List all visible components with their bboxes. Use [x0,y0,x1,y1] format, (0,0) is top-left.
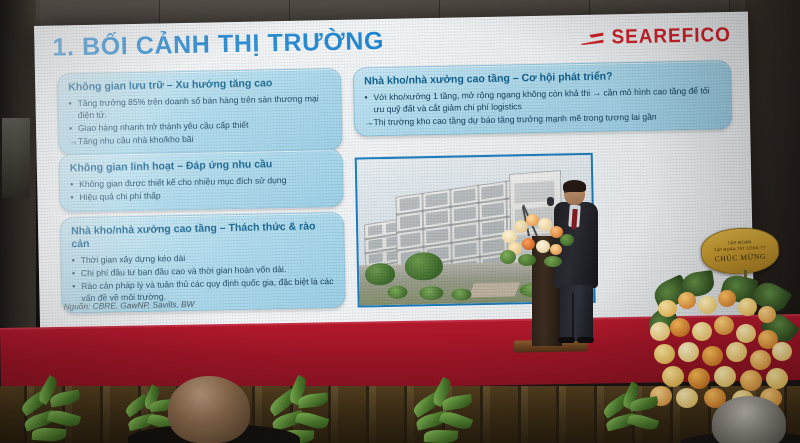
info-box-storage: Không gian lưu trữ – Xu hướng tăng cao T… [57,68,343,155]
info-box-challenges: Nhà kho/nhà xưởng cao tầng – Thách thức … [60,212,346,313]
info-box-flexible-space: Không gian linh hoạt – Đáp ứng nhu cầu K… [59,149,344,213]
box-heading: Không gian lưu trữ – Xu hướng tăng cao [68,76,330,94]
attendee-head-left [168,376,250,443]
box-heading: Không gian linh hoạt – Đáp ứng nhu cầu [70,157,332,175]
attendee-head-right [712,396,786,443]
microphone-icon [547,197,554,206]
photo-walkway [469,282,520,297]
decorative-plant [16,378,86,443]
box-bullet-list: Thời gian xây dựng kéo dài Chi phí đầu t… [72,250,335,305]
sign-line-3: CHÚC MỪNG [714,252,766,264]
conference-scene: 1. BỐI CẢNH THỊ TRƯỜNG SEAREFICO Không g… [0,0,800,443]
tree [405,252,444,281]
podium-flower-arrangement [500,212,576,268]
tree [365,263,395,286]
logo-text: SEAREFICO [612,24,732,49]
searefico-swoosh-icon [580,30,606,47]
box-heading: Nhà kho/nhà xưởng cao tầng – Thách thức … [71,220,333,252]
speaker-hair [563,180,586,192]
door [2,118,30,198]
congratulation-bouquet: TẬP ĐOÀN TẬP ĐOÀN TẤT CÔNG TY CHÚC MỪNG [648,226,800,406]
box-bullet-list: Không gian được thiết kế cho nhiều mục đ… [70,174,332,204]
speaker-legs [560,285,593,341]
info-box-opportunity: Nhà kho/nhà xưởng cao tầng – Cơ hội phát… [353,60,732,136]
slide-title: 1. BỐI CẢNH THỊ TRƯỜNG [52,27,384,63]
bouquet-sign: TẬP ĐOÀN TẬP ĐOÀN TẤT CÔNG TY CHÚC MỪNG [700,226,780,276]
box-bullet-list: Tăng trưởng 85% trên doanh số bán hàng t… [68,93,331,135]
company-logo: SEAREFICO [579,24,734,50]
presentation-screen: 1. BỐI CẢNH THỊ TRƯỜNG SEAREFICO Không g… [34,12,754,344]
decorative-plant [406,386,476,443]
decorative-plant [596,390,664,443]
